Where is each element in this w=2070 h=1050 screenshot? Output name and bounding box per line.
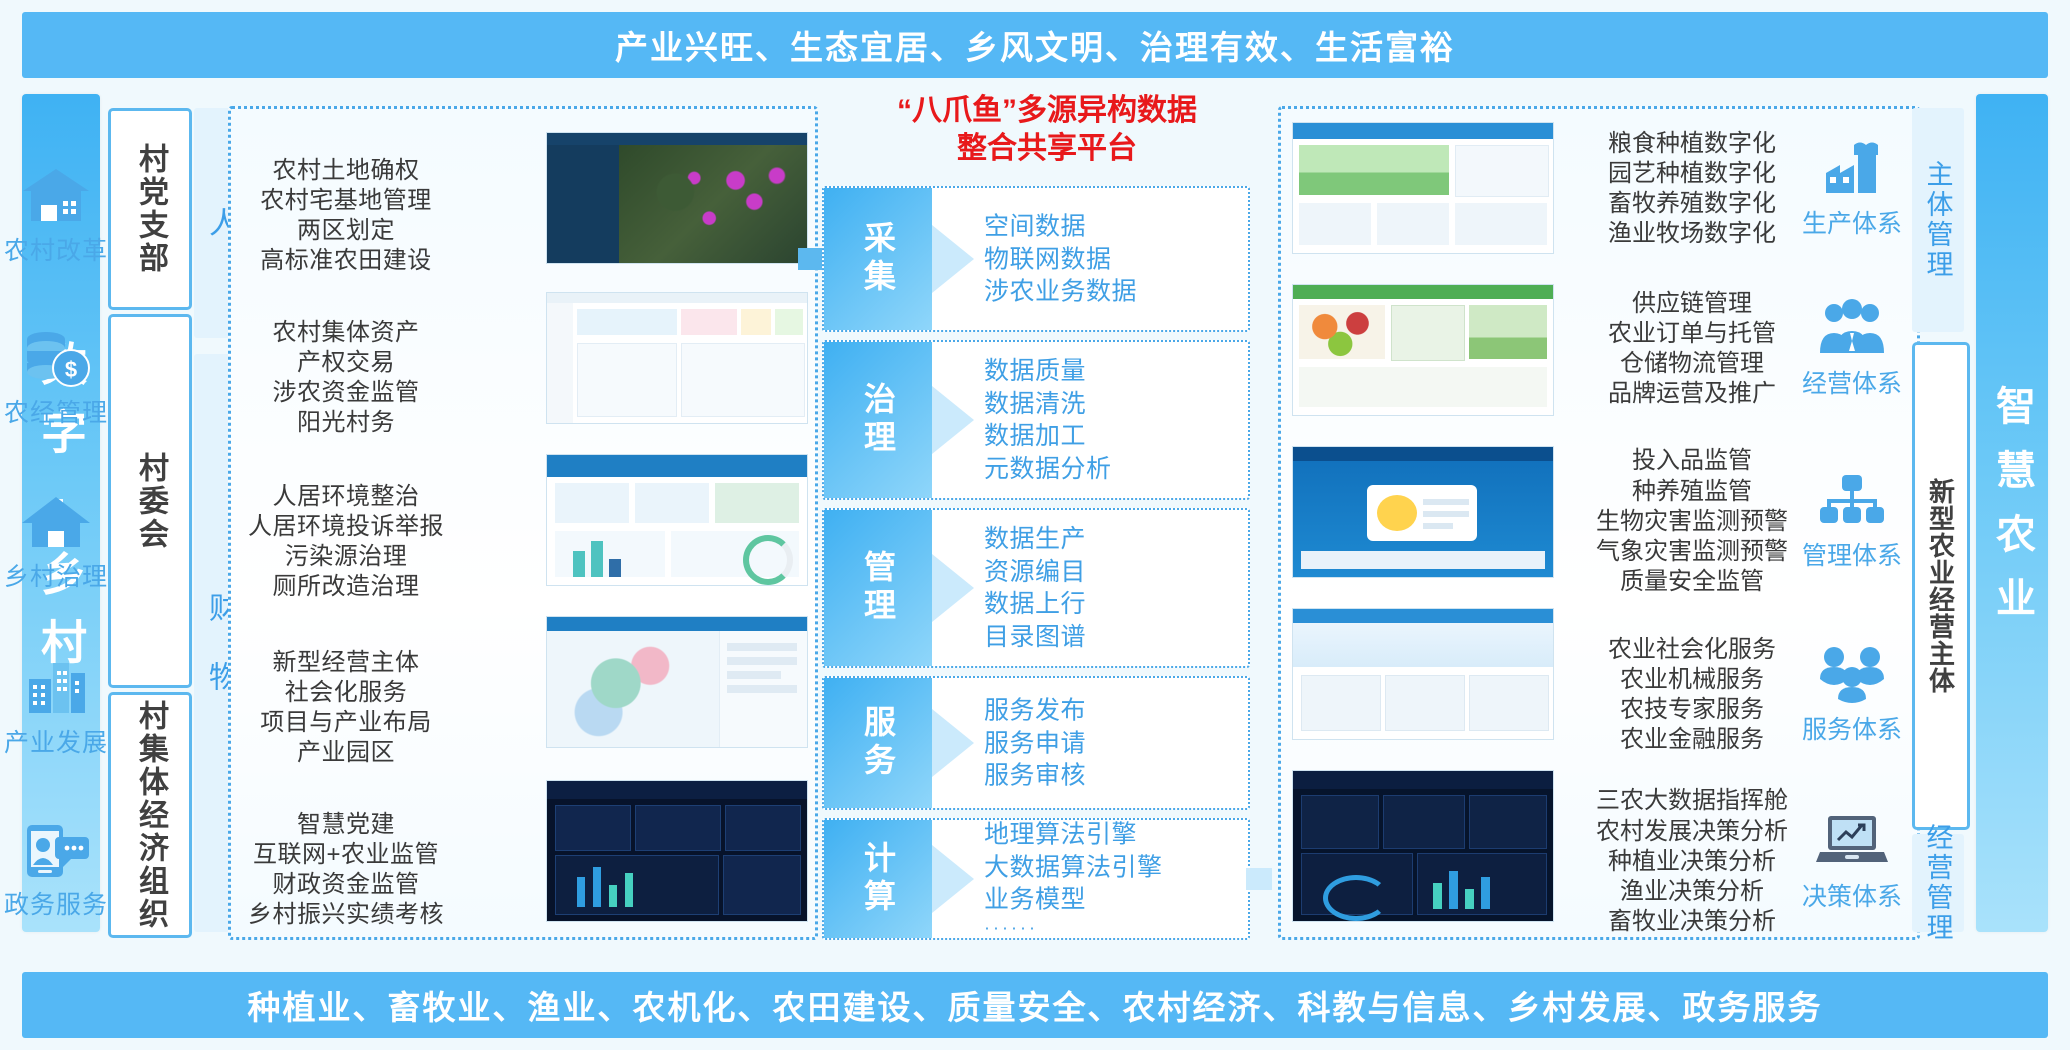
- thumbnail-planting-portal[interactable]: [1292, 122, 1554, 254]
- right-label-subject-management: 主体管理: [1912, 108, 1964, 332]
- factory-icon: [1816, 139, 1888, 197]
- platform-stage-items: 空间数据 物联网数据 涉农业务数据: [984, 210, 1240, 308]
- system-row-management[interactable]: 投入品监管 种养殖监管 生物灾害监测预警 气象灾害监测预警 质量安全监管 管理体…: [1592, 434, 1912, 610]
- platform-column: “八爪鱼”多源异构数据 整合共享平台 采集 空间数据 物联网数据 涉农业务数据 …: [822, 92, 1272, 934]
- system-feature: 畜牧养殖数字化: [1592, 189, 1792, 219]
- connector-out: [1246, 868, 1272, 890]
- app-feature: 产业园区: [112, 738, 580, 768]
- system-icon-wrap: 管理体系: [1792, 473, 1912, 572]
- laptop-chart-icon: [1814, 812, 1890, 870]
- platform-stage-items: 地理算法引擎 大数据算法引擎 业务模型 ······: [984, 819, 1240, 940]
- thumbnail-asset-dashboard[interactable]: [546, 292, 808, 424]
- people-group-icon: [1814, 299, 1890, 357]
- arrow-right-icon: [932, 845, 974, 913]
- platform-stage-item: 数据上行: [984, 588, 1240, 621]
- app-icon-wrap: 产业发展: [0, 657, 112, 759]
- system-feature-list: 供应链管理 农业订单与托管 仓储物流管理 品牌运营及推广: [1592, 289, 1792, 410]
- system-feature: 种养殖监管: [1592, 477, 1792, 507]
- system-name: 经营体系: [1792, 364, 1912, 400]
- system-feature: 渔业决策分析: [1592, 877, 1792, 907]
- system-feature: 农业金融服务: [1592, 725, 1792, 755]
- right-pillar-bar: 智慧农业: [1976, 94, 2048, 932]
- app-feature-list: 农村集体资产 产权交易 涉农资金监管 阳光村务: [112, 318, 584, 439]
- app-name: 政务服务: [0, 885, 112, 921]
- app-feature: 厕所改造治理: [112, 572, 580, 602]
- system-row-decision[interactable]: 三农大数据指挥舱 农村发展决策分析 种植业决策分析 渔业决策分析 畜牧业决策分析…: [1592, 782, 1912, 942]
- app-feature: 阳光村务: [112, 408, 580, 438]
- system-feature: 仓储物流管理: [1592, 349, 1792, 379]
- system-feature: 渔业牧场数字化: [1592, 219, 1792, 249]
- arrow-right-icon: [932, 709, 974, 777]
- platform-title-line-2: 整合共享平台: [822, 130, 1272, 168]
- system-feature: 三农大数据指挥舱: [1592, 786, 1792, 816]
- app-icon-wrap: $ 农经管理: [0, 327, 112, 429]
- platform-stage-item: 数据清洗: [984, 388, 1240, 421]
- platform-stage-item: 服务发布: [984, 694, 1240, 727]
- app-feature-list: 人居环境整治 人居环境投诉举报 污染源治理 厕所改造治理: [112, 482, 584, 603]
- right-label-text: 主体管理: [1919, 160, 1958, 280]
- app-feature: 产权交易: [112, 348, 580, 378]
- platform-stage-items: 服务发布 服务申请 服务审核: [984, 694, 1240, 792]
- app-name: 产业发展: [0, 723, 112, 759]
- thumbnail-agri-bigscreen[interactable]: [1292, 770, 1554, 922]
- app-row-agri-reform[interactable]: 农村改革 农村土地确权 农村宅基地管理 两区划定 高标准农田建设: [0, 138, 584, 294]
- system-feature: 品牌运营及推广: [1592, 379, 1792, 409]
- thumbnail-industry-map[interactable]: [546, 616, 808, 748]
- system-icon-wrap: 决策体系: [1792, 812, 1912, 913]
- platform-stage-item: 地理算法引擎: [984, 819, 1240, 852]
- platform-stage-item: ······: [984, 916, 1240, 939]
- app-row-government-service[interactable]: 政务服务 智慧党建 互联网+农业监管 财政资金监管 乡村振兴实绩考核: [0, 792, 584, 948]
- platform-title-line-1: “八爪鱼”多源异构数据: [822, 92, 1272, 130]
- system-feature: 农业社会化服务: [1592, 635, 1792, 665]
- platform-stage-item: 数据加工: [984, 420, 1240, 453]
- platform-stage-item: 物联网数据: [984, 243, 1240, 276]
- platform-stage-items: 数据质量 数据清洗 数据加工 元数据分析: [984, 355, 1240, 485]
- arrow-right-icon: [932, 386, 974, 454]
- app-feature: 人居环境整治: [112, 482, 580, 512]
- system-icon-wrap: 生产体系: [1792, 139, 1912, 240]
- platform-stage-item: 服务审核: [984, 759, 1240, 792]
- system-name: 生产体系: [1792, 204, 1912, 240]
- top-banner-text: 产业兴旺、生态宜居、乡风文明、治理有效、生活富裕: [615, 21, 1455, 69]
- thumbnail-supply-chain-portal[interactable]: [1292, 284, 1554, 416]
- thumbnail-land-map[interactable]: [546, 132, 808, 264]
- right-box-label: 新型农业经营主体: [1923, 478, 1960, 694]
- org-chart-icon: [1816, 473, 1888, 529]
- platform-stage-item: 空间数据: [984, 210, 1240, 243]
- system-feature-list: 三农大数据指挥舱 农村发展决策分析 种植业决策分析 渔业决策分析 畜牧业决策分析: [1592, 786, 1792, 937]
- app-name: 乡村治理: [0, 557, 112, 593]
- app-feature: 乡村振兴实绩考核: [112, 900, 580, 930]
- platform-stage-tag: 管理: [824, 510, 932, 666]
- app-feature: 社会化服务: [112, 678, 580, 708]
- connector-in: [798, 248, 822, 270]
- app-feature: 互联网+农业监管: [112, 840, 580, 870]
- system-icon-wrap: 服务体系: [1792, 645, 1912, 746]
- app-name: 农经管理: [0, 393, 112, 429]
- bottom-banner-text: 种植业、畜牧业、渔业、农机化、农田建设、质量安全、农村经济、科教与信息、乡村发展…: [248, 981, 1823, 1029]
- app-row-industry-development[interactable]: 产业发展 新型经营主体 社会化服务 项目与产业布局 产业园区: [0, 630, 584, 786]
- system-feature: 农技专家服务: [1592, 695, 1792, 725]
- system-name: 决策体系: [1792, 877, 1912, 913]
- diagram-stage: 数字·乡村 村党支部 村委会 村集体经济组织 人 财 物 农村改革 农村土地确权…: [0, 92, 2070, 962]
- system-feature: 供应链管理: [1592, 289, 1792, 319]
- bottom-banner: 种植业、畜牧业、渔业、农机化、农田建设、质量安全、农村经济、科教与信息、乡村发展…: [22, 972, 2048, 1038]
- platform-title: “八爪鱼”多源异构数据 整合共享平台: [822, 92, 1272, 169]
- app-feature-list: 新型经营主体 社会化服务 项目与产业布局 产业园区: [112, 648, 584, 769]
- platform-stage-item: 元数据分析: [984, 453, 1240, 486]
- system-icon-wrap: 经营体系: [1792, 299, 1912, 400]
- app-row-rural-governance[interactable]: 乡村治理 人居环境整治 人居环境投诉举报 污染源治理 厕所改造治理: [0, 464, 584, 620]
- arrow-right-icon: [932, 554, 974, 622]
- top-banner: 产业兴旺、生态宜居、乡风文明、治理有效、生活富裕: [22, 12, 2048, 78]
- system-row-operation[interactable]: 供应链管理 农业订单与托管 仓储物流管理 品牌运营及推广 经营体系: [1592, 274, 1912, 424]
- right-label-text: 经营管理: [1919, 823, 1958, 943]
- platform-stage-item: 大数据算法引擎: [984, 851, 1240, 884]
- app-feature-list: 农村土地确权 农村宅基地管理 两区划定 高标准农田建设: [112, 156, 584, 277]
- three-users-icon: [1814, 645, 1890, 703]
- arrow-right-icon: [932, 225, 974, 293]
- system-feature: 农业订单与托管: [1592, 319, 1792, 349]
- system-feature: 质量安全监管: [1592, 567, 1792, 597]
- platform-stage-label: 管理: [855, 550, 901, 626]
- system-feature: 农村发展决策分析: [1592, 817, 1792, 847]
- right-label-operation-management: 经营管理: [1912, 834, 1964, 932]
- mobile-chat-icon: [19, 819, 93, 881]
- system-feature: 粮食种植数字化: [1592, 129, 1792, 159]
- buildings-icon: [19, 657, 93, 719]
- app-feature: 农村集体资产: [112, 318, 580, 348]
- platform-stage-service[interactable]: 服务 服务发布 服务申请 服务审核: [822, 676, 1250, 810]
- app-row-rural-economy[interactable]: $ 农经管理 农村集体资产 产权交易 涉农资金监管 阳光村务: [0, 300, 584, 456]
- platform-stage-label: 服务: [855, 705, 901, 781]
- app-feature: 污染源治理: [112, 542, 580, 572]
- svg-text:$: $: [65, 357, 77, 382]
- system-feature: 园艺种植数字化: [1592, 159, 1792, 189]
- app-feature: 农村宅基地管理: [112, 186, 580, 216]
- platform-stage-tag: 服务: [824, 678, 932, 808]
- app-feature: 财政资金监管: [112, 870, 580, 900]
- platform-stage-tag: 治理: [824, 342, 932, 498]
- system-feature: 气象灾害监测预警: [1592, 537, 1792, 567]
- app-feature-list: 智慧党建 互联网+农业监管 财政资金监管 乡村振兴实绩考核: [112, 810, 584, 931]
- platform-stage-tag: 计算: [824, 820, 932, 938]
- system-feature: 畜牧业决策分析: [1592, 907, 1792, 937]
- system-feature: 农业机械服务: [1592, 665, 1792, 695]
- thumbnail-governance-dashboard[interactable]: [546, 454, 808, 586]
- system-name: 管理体系: [1792, 536, 1912, 572]
- app-feature: 两区划定: [112, 216, 580, 246]
- system-feature: 生物灾害监测预警: [1592, 507, 1792, 537]
- app-icon-wrap: 乡村治理: [0, 491, 112, 593]
- house-roof-icon: [19, 165, 93, 227]
- thumbnail-food-safety-portal[interactable]: [1292, 446, 1554, 578]
- app-feature: 高标准农田建设: [112, 246, 580, 276]
- coins-dollar-icon: $: [19, 327, 93, 389]
- app-feature: 项目与产业布局: [112, 708, 580, 738]
- platform-stage-collect[interactable]: 采集 空间数据 物联网数据 涉农业务数据: [822, 186, 1250, 332]
- platform-stage-item: 资源编目: [984, 556, 1240, 589]
- app-feature: 农村土地确权: [112, 156, 580, 186]
- app-feature: 人居环境投诉举报: [112, 512, 580, 542]
- thumbnail-party-building-bigscreen[interactable]: [546, 780, 808, 922]
- app-feature: 新型经营主体: [112, 648, 580, 678]
- thumbnail-service-portal[interactable]: [1292, 608, 1554, 740]
- platform-stage-govern[interactable]: 治理 数据质量 数据清洗 数据加工 元数据分析: [822, 340, 1250, 500]
- platform-stage-item: 数据质量: [984, 355, 1240, 388]
- system-feature: 投入品监管: [1592, 446, 1792, 476]
- right-pillar-label: 智慧农业: [1983, 385, 2041, 641]
- system-feature: 种植业决策分析: [1592, 847, 1792, 877]
- platform-stage-label: 采集: [855, 221, 901, 297]
- app-feature: 智慧党建: [112, 810, 580, 840]
- system-row-production[interactable]: 粮食种植数字化 园艺种植数字化 畜牧养殖数字化 渔业牧场数字化 生产体系: [1592, 114, 1912, 264]
- platform-stage-item: 目录图谱: [984, 621, 1240, 654]
- platform-stage-label: 计算: [855, 841, 901, 917]
- app-icon-wrap: 农村改革: [0, 165, 112, 267]
- platform-stage-tag: 采集: [824, 188, 932, 330]
- platform-stage-manage[interactable]: 管理 数据生产 资源编目 数据上行 目录图谱: [822, 508, 1250, 668]
- app-name: 农村改革: [0, 231, 112, 267]
- platform-stage-label: 治理: [855, 382, 901, 458]
- platform-stage-item: 服务申请: [984, 727, 1240, 760]
- app-feature: 涉农资金监管: [112, 378, 580, 408]
- platform-stage-item: 涉农业务数据: [984, 275, 1240, 308]
- system-feature-list: 粮食种植数字化 园艺种植数字化 畜牧养殖数字化 渔业牧场数字化: [1592, 129, 1792, 250]
- platform-stage-items: 数据生产 资源编目 数据上行 目录图谱: [984, 523, 1240, 653]
- system-row-service[interactable]: 农业社会化服务 农业机械服务 农技专家服务 农业金融服务 服务体系: [1592, 620, 1912, 770]
- platform-stage-item: 业务模型: [984, 884, 1240, 917]
- platform-stage-compute[interactable]: 计算 地理算法引擎 大数据算法引擎 业务模型 ······: [822, 818, 1250, 940]
- system-feature-list: 农业社会化服务 农业机械服务 农技专家服务 农业金融服务: [1592, 635, 1792, 756]
- system-feature-list: 投入品监管 种养殖监管 生物灾害监测预警 气象灾害监测预警 质量安全监管: [1592, 446, 1792, 597]
- system-name: 服务体系: [1792, 710, 1912, 746]
- right-box-new-agri-entities[interactable]: 新型农业经营主体: [1912, 342, 1970, 830]
- platform-stage-item: 数据生产: [984, 523, 1240, 556]
- home-icon: [19, 491, 93, 553]
- app-icon-wrap: 政务服务: [0, 819, 112, 921]
